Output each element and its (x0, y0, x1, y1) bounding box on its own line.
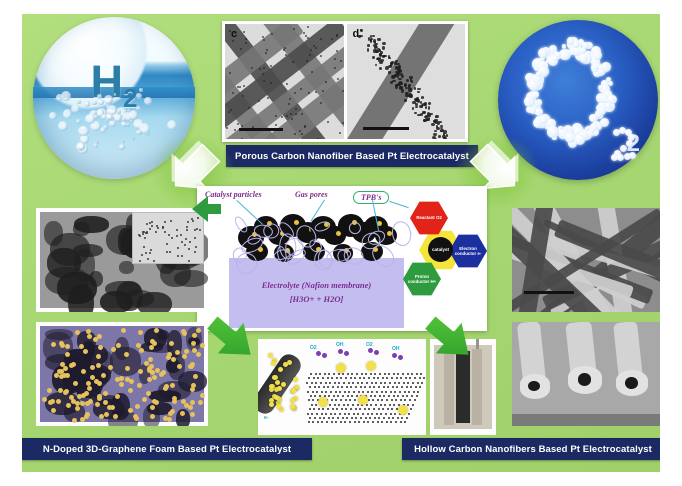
oxygen-bubble (530, 108, 536, 114)
carbon-atom (342, 417, 344, 419)
carbon-atom (355, 408, 357, 410)
carbon-atom (381, 399, 383, 401)
carbon-atom (328, 417, 330, 419)
pt-nanoparticle (69, 395, 74, 400)
pt-nanoparticle (66, 403, 71, 408)
carbon-atom (357, 404, 359, 406)
carbon-atom (366, 382, 368, 384)
panel-letter-d: d (353, 28, 360, 40)
carbon-atom (388, 395, 390, 397)
sem-particle (149, 228, 151, 230)
carbon-atom (350, 408, 352, 410)
pt-nanoparticle (230, 109, 232, 111)
carbon-atom (351, 417, 353, 419)
pt-nanoparticle (97, 334, 102, 339)
pt-nanoparticle (148, 357, 153, 362)
carbon-atom (322, 377, 324, 379)
carbon-atom (361, 373, 363, 375)
carbon-atom (412, 404, 414, 406)
sem-particle (180, 234, 182, 236)
carbon-atom (360, 386, 362, 388)
oxygen-bubble (598, 107, 605, 114)
pt-nanoparticle (336, 363, 346, 373)
carbon-atom (312, 421, 314, 423)
carbon-atom (370, 373, 372, 375)
carbon-atom (323, 417, 325, 419)
pt-nanoparticle (80, 417, 85, 422)
carbon-atom (377, 377, 379, 379)
pt-nanoparticle (150, 414, 155, 419)
sem-info-bar (512, 414, 660, 426)
carbon-atom (316, 413, 318, 415)
carbon-atom (342, 373, 344, 375)
micrograph-nanofiber-sem (512, 208, 660, 312)
carbon-atom (348, 382, 350, 384)
pt-nanoparticle (139, 348, 144, 353)
carbon-atom (311, 404, 313, 406)
carbon-atom (334, 413, 336, 415)
sem-particle (170, 220, 172, 222)
oxygen-bubble (590, 130, 594, 134)
carbon-atom (341, 386, 343, 388)
pt-nanoparticle (263, 39, 265, 41)
arrow-green-up-left (190, 192, 226, 226)
carbon-atom (325, 413, 327, 415)
pt-nanoparticle (303, 32, 305, 34)
sem-particle (145, 252, 147, 254)
carbon-atom (376, 391, 378, 393)
carbon-atom (374, 417, 376, 419)
carbon-atom (357, 382, 359, 384)
pt-nanoparticle (184, 349, 189, 354)
carbon-atom (311, 413, 313, 415)
carbon-atom (394, 391, 396, 393)
pt-nanoparticle (379, 67, 382, 70)
carbon-atom (327, 386, 329, 388)
carbon-atom (355, 417, 357, 419)
sem-particle (150, 249, 152, 251)
micrograph-hollow-fiber-cross-section (512, 322, 660, 426)
water-bubble (129, 110, 139, 120)
oxygen-bubble (547, 126, 559, 138)
carbon-atom (384, 382, 386, 384)
scale-bar (524, 291, 574, 294)
oxygen-bubble (593, 65, 598, 70)
carbon-atom (365, 373, 367, 375)
panel-letter-c: c (231, 28, 237, 40)
pt-nanoparticle (367, 44, 370, 47)
pt-nanoparticle (170, 383, 175, 388)
carbon-atom (386, 421, 388, 423)
pt-nanoparticle (289, 98, 291, 100)
carbon-atom (383, 417, 385, 419)
pt-nanoparticle (423, 119, 426, 122)
carbon-atom (332, 408, 334, 410)
pt-nanoparticle (84, 414, 89, 419)
carbon-atom (349, 421, 351, 423)
pt-nanoparticle (284, 47, 286, 49)
sem-particle (176, 235, 178, 237)
carbon-atom (318, 408, 320, 410)
carbon-atom (315, 404, 317, 406)
pt-nanoparticle (404, 99, 408, 102)
water-bubble (49, 112, 57, 120)
tem-panel-c: c (225, 24, 344, 139)
sem-particle (141, 254, 143, 256)
pt-nanoparticle (295, 113, 297, 115)
pt-nanoparticle (438, 135, 441, 138)
carbon-atom (409, 377, 411, 379)
pt-nanoparticle (101, 373, 106, 378)
pt-nanoparticle (152, 399, 157, 404)
sem-particle (181, 255, 183, 257)
carbon-atom (330, 391, 332, 393)
carbon-atom (339, 413, 341, 415)
pt-nanoparticle (398, 78, 401, 80)
oxygen-bubble (562, 44, 566, 48)
carbon-atom (395, 399, 397, 401)
carbon-atom (410, 386, 412, 388)
carbon-atom (395, 421, 397, 423)
carbon-atom (358, 421, 360, 423)
pt-nanoparticle (42, 397, 47, 402)
carbon-atom (364, 386, 366, 388)
water-bubble (100, 127, 106, 133)
label-tpb: TPB's (353, 191, 389, 204)
pt-nanoparticle (292, 61, 294, 63)
carbon-atom (405, 377, 407, 379)
micrograph-graphene-foam-sem (36, 208, 208, 312)
sem-particle (199, 229, 201, 231)
pt-nanoparticle (395, 85, 398, 88)
pt-nanoparticle (318, 397, 328, 407)
pt-nanoparticle (408, 88, 412, 91)
pt-nanoparticle (283, 362, 288, 367)
pt-nanoparticle (149, 345, 154, 350)
oxygen-bubble (604, 119, 607, 122)
carbon-atom (385, 413, 387, 415)
pt-nanoparticle (428, 106, 430, 110)
water-bubble (76, 119, 81, 124)
pt-nanoparticle (87, 386, 92, 391)
carbon-atom (404, 421, 406, 423)
pt-nanoparticle (51, 342, 56, 347)
carbon-atom (317, 421, 319, 423)
pt-nanoparticle (388, 71, 392, 73)
carbon-atom (370, 404, 372, 406)
o2-molecule (392, 353, 397, 358)
carbon-atom (406, 386, 408, 388)
foam-pore (45, 329, 74, 339)
o2-molecule (398, 355, 403, 360)
foam-pore (44, 221, 63, 246)
carbon-atom (409, 399, 411, 401)
carbon-atom (311, 382, 313, 384)
carbon-atom (324, 373, 326, 375)
carbon-atom (368, 408, 370, 410)
oxygen-bubble (582, 42, 588, 48)
sem-particle (188, 248, 190, 250)
carbon-atom (372, 421, 374, 423)
pt-nanoparticle (232, 40, 234, 42)
carbon-atom (394, 382, 396, 384)
carbon-atom (383, 386, 385, 388)
carbon-atom (417, 382, 419, 384)
orr-graphene-schematic: O2 OH O2 OH e- (258, 339, 426, 435)
pt-nanoparticle (190, 412, 195, 417)
carbon-atom (379, 373, 381, 375)
carbon-atom (421, 382, 423, 384)
pt-nanoparticle (133, 414, 138, 419)
carbon-atom (389, 382, 391, 384)
carbon-atom (308, 399, 310, 401)
carbon-atom (355, 386, 357, 388)
carbon-atom (362, 413, 364, 415)
pt-nanoparticle (97, 381, 102, 386)
carbon-atom (416, 395, 418, 397)
carbon-atom (314, 395, 316, 397)
carbon-atom (391, 377, 393, 379)
tem-panel-d: d (347, 24, 466, 139)
carbon-atom (314, 417, 316, 419)
sem-particle (151, 221, 153, 223)
carbon-atom (380, 382, 382, 384)
carbon-atom (329, 404, 331, 406)
carbon-atom (337, 386, 339, 388)
carbon-atom (308, 421, 310, 423)
pt-nanoparticle (374, 46, 377, 50)
oxygen-bubble (529, 80, 539, 90)
carbon-atom (386, 399, 388, 401)
oxygen-bubble (629, 152, 636, 159)
pt-nanoparticle (382, 46, 385, 50)
sem-particle (166, 251, 168, 253)
sem-particle (171, 237, 173, 239)
carbon-atom (331, 399, 333, 401)
pt-nanoparticle (366, 361, 376, 371)
carbon-atom (309, 408, 311, 410)
pt-nanoparticle (404, 84, 406, 87)
carbon-atom (335, 421, 337, 423)
pt-nanoparticle (320, 38, 322, 40)
pt-nanoparticle (159, 372, 164, 377)
pt-nanoparticle (128, 408, 133, 413)
o2-molecule (368, 348, 373, 353)
carbon-atom (363, 421, 365, 423)
pt-nanoparticle (397, 73, 400, 76)
pt-nanoparticle (286, 115, 288, 117)
oxygen-bubble (620, 145, 627, 152)
pt-nanoparticle (397, 69, 401, 72)
carbon-atom (372, 399, 374, 401)
carbon-atom (423, 377, 425, 379)
carbon-atom (388, 373, 390, 375)
o2-molecule (374, 350, 379, 355)
pt-nanoparticle (336, 50, 338, 52)
carbon-atom (343, 382, 345, 384)
pt-nanoparticle (48, 400, 53, 405)
pt-nanoparticle (245, 42, 247, 44)
carbon-atom (321, 391, 323, 393)
pt-nanoparticle (412, 101, 415, 104)
carbon-atom (348, 391, 350, 393)
carbon-atom (362, 391, 364, 393)
carbon-atom (382, 377, 384, 379)
carbon-atom (393, 395, 395, 397)
carbon-atom (391, 408, 393, 410)
pt-nanoparticle (406, 79, 409, 82)
pt-nanoparticle (188, 405, 193, 410)
carbon-atom (344, 421, 346, 423)
pt-nanoparticle (169, 341, 174, 346)
pt-nanoparticle (425, 115, 429, 117)
pt-nanoparticle (64, 389, 69, 394)
carbon-atom (356, 373, 358, 375)
carbon-atom (310, 395, 312, 397)
carbon-atom (346, 417, 348, 419)
carbon-atom (317, 377, 319, 379)
carbon-atom (407, 404, 409, 406)
pt-nanoparticle (150, 339, 155, 344)
carbon-atom (331, 421, 333, 423)
carbon-atom (323, 386, 325, 388)
carbon-atom (373, 377, 375, 379)
pt-nanoparticle (424, 102, 427, 106)
pt-nanoparticle (408, 85, 410, 88)
pt-nanoparticle (58, 388, 63, 393)
caption-hollow-cnf: Hollow Carbon Nanofibers Based Pt Electr… (402, 438, 660, 460)
pt-nanoparticle (414, 87, 416, 90)
carbon-atom (307, 391, 309, 393)
carbon-atom (368, 377, 370, 379)
carbon-atom (375, 382, 377, 384)
carbon-atom (313, 408, 315, 410)
carbon-atom (306, 382, 308, 384)
hollow-fiber-lumen (625, 377, 638, 389)
oxygen-bubble (553, 57, 557, 61)
carbon-atom (316, 391, 318, 393)
pt-nanoparticle (171, 357, 176, 362)
oxygen-bubble (586, 51, 590, 55)
water-bubble (92, 101, 97, 106)
carbon-atom (331, 377, 333, 379)
carbon-atom (340, 377, 342, 379)
pt-nanoparticle (295, 108, 297, 110)
sem-particle (147, 258, 149, 260)
pt-nanoparticle (72, 418, 77, 423)
carbon-atom (335, 391, 337, 393)
water-bubble (136, 130, 141, 135)
pt-nanoparticle (416, 97, 419, 100)
carbon-atom (332, 417, 334, 419)
carbon-atom (378, 417, 380, 419)
carbon-atom (367, 391, 369, 393)
pt-nanoparticle (116, 343, 121, 348)
carbon-atom (367, 413, 369, 415)
carbon-atom (334, 382, 336, 384)
pt-nanoparticle (367, 48, 370, 52)
foam-pore (125, 290, 154, 307)
carbon-atom (344, 391, 346, 393)
carbon-atom (313, 377, 315, 379)
carbon-atom (333, 373, 335, 375)
carbon-atom (381, 421, 383, 423)
carbon-atom (374, 395, 376, 397)
carbon-atom (322, 408, 324, 410)
carbon-atom (388, 417, 390, 419)
o2-molecule (344, 351, 349, 356)
carbon-atom (327, 377, 329, 379)
pt-nanoparticle (200, 393, 205, 398)
pt-nanoparticle (370, 35, 373, 38)
carbon-atom (365, 417, 367, 419)
pt-nanoparticle (428, 102, 431, 105)
carbon-atom (373, 386, 375, 388)
carbon-atom (349, 399, 351, 401)
carbon-atom (377, 399, 379, 401)
pt-nanoparticle (342, 122, 343, 124)
o2-molecule (322, 353, 327, 358)
carbon-atom (415, 386, 417, 388)
label-oh-b: OH (392, 346, 400, 352)
pt-nanoparticle (377, 38, 381, 42)
circle-catalyst: catalyst (428, 237, 453, 262)
carbon-atom (410, 408, 412, 410)
sem-particle (164, 221, 166, 223)
foam-pore (45, 267, 89, 295)
carbon-atom (338, 404, 340, 406)
carbon-atom (347, 395, 349, 397)
pt-nanoparticle (237, 86, 239, 88)
pt-nanoparticle (301, 133, 303, 135)
caption-porous-cnf: Porous Carbon Nanofiber Based Pt Electro… (226, 145, 478, 167)
pt-nanoparticle (192, 333, 197, 338)
carbon-atom (399, 391, 401, 393)
carbon-atom (414, 377, 416, 379)
carbon-atom (412, 382, 414, 384)
carbon-atom (380, 413, 382, 415)
carbon-atom (381, 391, 383, 393)
carbon-atom (356, 395, 358, 397)
pt-nanoparticle (294, 92, 296, 94)
pt-nanoparticle (172, 399, 177, 404)
pt-nanoparticle (226, 127, 228, 129)
carbon-atom (419, 386, 421, 388)
nafion-film (389, 220, 412, 248)
pt-nanoparticle (65, 352, 70, 357)
carbon-atom (352, 382, 354, 384)
scale-bar (363, 127, 409, 130)
carbon-atom (390, 391, 392, 393)
pt-nanoparticle (54, 373, 59, 378)
carbon-atom (343, 404, 345, 406)
carbon-atom (392, 417, 394, 419)
pt-nanoparticle (266, 49, 268, 51)
carbon-atom (328, 395, 330, 397)
carbon-atom (408, 413, 410, 415)
carbon-atom (375, 404, 377, 406)
pt-nanoparticle (293, 377, 298, 382)
carbon-atom (336, 408, 338, 410)
carbon-atom (397, 373, 399, 375)
carbon-atom (340, 421, 342, 423)
carbon-atom (373, 408, 375, 410)
carbon-atom (358, 391, 360, 393)
pt-nanoparticle (154, 328, 159, 333)
tpb-pointer-arrow (389, 201, 408, 208)
carbon-atom (406, 395, 408, 397)
carbon-atom (335, 399, 337, 401)
